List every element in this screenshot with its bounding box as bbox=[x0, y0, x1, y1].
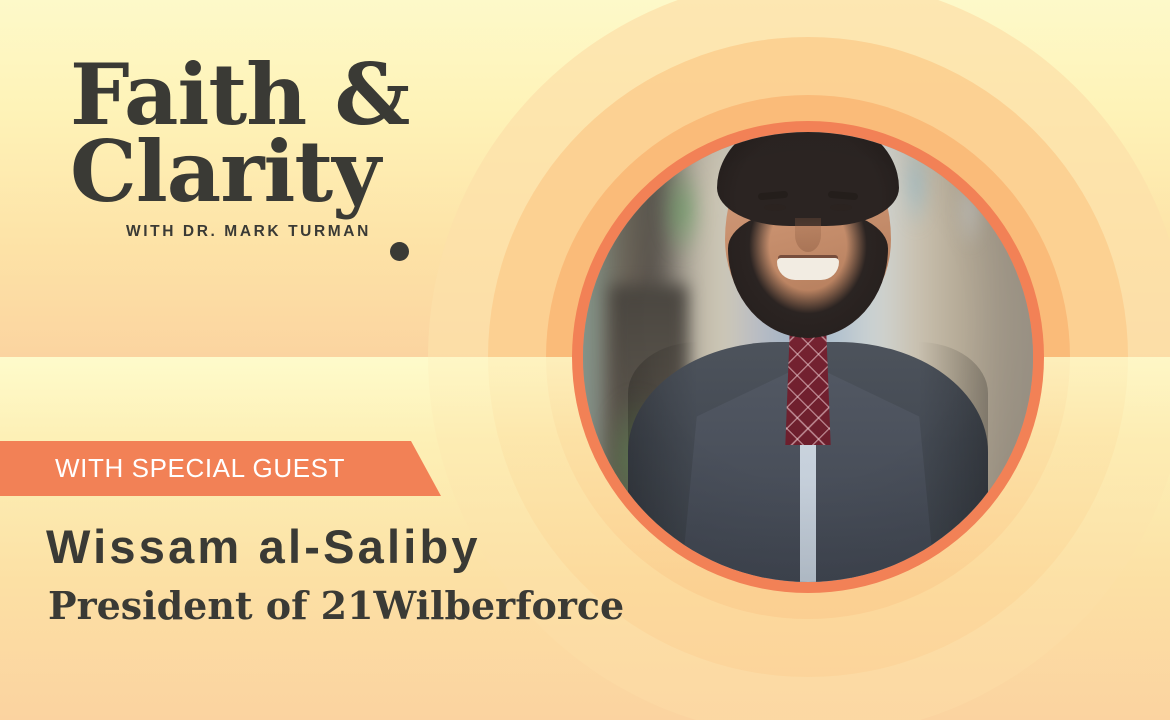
logo-tagline: WITH DR. MARK TURMAN bbox=[126, 223, 490, 241]
show-logo: Faith & Clarity WITH DR. MARK TURMAN bbox=[70, 56, 490, 241]
person-eye-right bbox=[830, 204, 852, 211]
guest-portrait-photo bbox=[583, 132, 1033, 582]
person-nose bbox=[795, 218, 821, 252]
person-eye-left bbox=[764, 204, 786, 211]
special-guest-ribbon-label: WITH SPECIAL GUEST bbox=[55, 453, 345, 484]
podcast-episode-graphic: Faith & Clarity WITH DR. MARK TURMAN WIT… bbox=[0, 0, 1170, 720]
guest-portrait-ring bbox=[572, 121, 1044, 593]
person-hair bbox=[717, 132, 899, 226]
logo-dot-icon bbox=[390, 242, 409, 261]
special-guest-ribbon: WITH SPECIAL GUEST bbox=[0, 441, 441, 496]
person-smile bbox=[777, 258, 839, 280]
guest-title: President of 21Wilberforce bbox=[48, 583, 624, 628]
photo-person bbox=[583, 132, 1033, 582]
guest-name: Wissam al-Saliby bbox=[46, 519, 481, 574]
logo-line-two: Clarity bbox=[70, 133, 490, 210]
